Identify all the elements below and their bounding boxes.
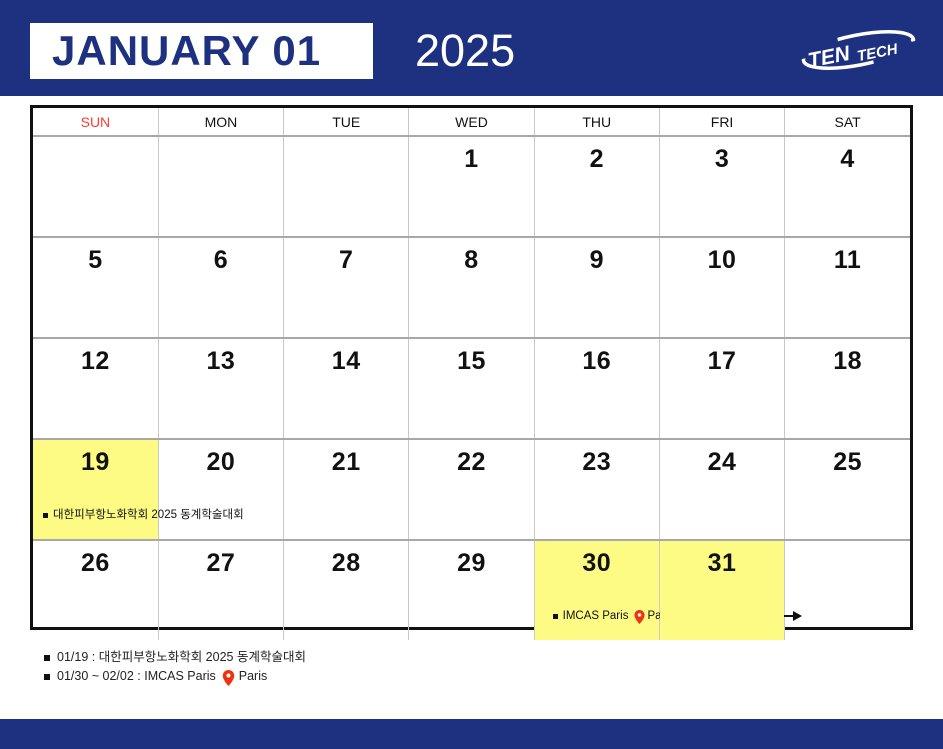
day-number: 4 (785, 145, 910, 173)
day-number: 16 (535, 347, 659, 375)
legend-item-2: 01/30 ~ 02/02 : IMCAS Paris Paris (44, 667, 644, 686)
day-cell[interactable]: 4 (785, 136, 910, 237)
day-number: 11 (785, 246, 910, 274)
weekday-header-sat: SAT (785, 108, 910, 136)
weekday-header-thu: THU (534, 108, 659, 136)
day-cell[interactable]: 24 (659, 439, 784, 540)
day-cell[interactable]: 27 (158, 540, 283, 640)
day-cell-19[interactable]: 19 대한피부항노화학회 2025 동계학술대회 (33, 439, 158, 540)
bullet-square-icon (44, 655, 50, 661)
day-number: 19 (33, 448, 158, 476)
weekday-header-wed: WED (409, 108, 534, 136)
day-cell[interactable]: 18 (785, 338, 910, 439)
day-number: 28 (284, 549, 408, 577)
footer-bar (0, 719, 943, 749)
day-number: 10 (660, 246, 784, 274)
day-cell[interactable]: 25 (785, 439, 910, 540)
weekday-header-row: SUN MON TUE WED THU FRI SAT (33, 108, 910, 136)
day-number: 13 (159, 347, 283, 375)
day-cell[interactable]: 20 (158, 439, 283, 540)
page-title: JANUARY 01 (30, 30, 321, 72)
day-number: 20 (159, 448, 283, 476)
day-cell[interactable]: 2 (534, 136, 659, 237)
calendar-grid: SUN MON TUE WED THU FRI SAT 1 2 3 4 (30, 105, 913, 630)
day-number: 2 (535, 145, 659, 173)
day-number: 26 (33, 549, 158, 577)
day-number: 12 (33, 347, 158, 375)
day-number: 31 (660, 549, 784, 577)
day-cell[interactable]: 26 (33, 540, 158, 640)
calendar-week-row: 1 2 3 4 (33, 136, 910, 237)
day-cell[interactable]: 16 (534, 338, 659, 439)
day-number: 22 (409, 448, 533, 476)
day-cell[interactable]: 5 (33, 237, 158, 338)
year-label: 2025 (415, 24, 515, 78)
bullet-square-icon (43, 513, 48, 518)
day-cell[interactable]: 10 (659, 237, 784, 338)
bullet-square-icon (553, 614, 558, 619)
day-cell[interactable]: 1 (409, 136, 534, 237)
day-number: 8 (409, 246, 533, 274)
weekday-header-fri: FRI (659, 108, 784, 136)
day-number: 21 (284, 448, 408, 476)
day-number: 14 (284, 347, 408, 375)
map-pin-icon (222, 670, 235, 686)
day-cell[interactable]: 7 (284, 237, 409, 338)
day-number: 25 (785, 448, 910, 476)
event-title: IMCAS Paris (563, 609, 629, 623)
bullet-square-icon (44, 674, 50, 680)
day-cell[interactable]: 8 (409, 237, 534, 338)
day-cell[interactable] (785, 540, 910, 640)
day-cell[interactable]: 29 (409, 540, 534, 640)
map-pin-icon (634, 610, 645, 624)
weekday-header-tue: TUE (284, 108, 409, 136)
day-cell[interactable]: 11 (785, 237, 910, 338)
day-number: 17 (660, 347, 784, 375)
day-cell[interactable] (284, 136, 409, 237)
legend-item-1: 01/19 : 대한피부항노화학회 2025 동계학술대회 (44, 648, 644, 667)
day-cell-30[interactable]: 30 IMCAS Paris Paris (534, 540, 659, 640)
day-number: 29 (409, 549, 533, 577)
day-cell[interactable]: 17 (659, 338, 784, 439)
day-cell-31[interactable]: 31 (659, 540, 784, 640)
day-number: 27 (159, 549, 283, 577)
day-cell[interactable]: 3 (659, 136, 784, 237)
calendar-week-row: 19 대한피부항노화학회 2025 동계학술대회 20 21 22 23 24 … (33, 439, 910, 540)
day-number: 9 (535, 246, 659, 274)
month-title-box: JANUARY 01 (30, 23, 373, 79)
day-number: 5 (33, 246, 158, 274)
day-cell[interactable]: 23 (534, 439, 659, 540)
calendar-table: SUN MON TUE WED THU FRI SAT 1 2 3 4 (33, 108, 910, 640)
day-number: 1 (409, 145, 533, 173)
day-cell[interactable]: 22 (409, 439, 534, 540)
day-number: 6 (159, 246, 283, 274)
day-cell[interactable] (33, 136, 158, 237)
day-cell[interactable] (158, 136, 283, 237)
day-cell[interactable]: 28 (284, 540, 409, 640)
day-number: 23 (535, 448, 659, 476)
calendar-week-row: 5 6 7 8 9 10 11 (33, 237, 910, 338)
day-number: 18 (785, 347, 910, 375)
day-number: 7 (284, 246, 408, 274)
day-number: 30 (535, 549, 659, 577)
calendar-week-row: 26 27 28 29 30 IMCAS Paris (33, 540, 910, 640)
day-cell[interactable]: 21 (284, 439, 409, 540)
tentech-logo-icon: TEN TECH (796, 30, 921, 70)
day-cell[interactable]: 15 (409, 338, 534, 439)
calendar-week-row: 12 13 14 15 16 17 18 (33, 338, 910, 439)
day-number: 15 (409, 347, 533, 375)
legend-text: 01/19 : 대한피부항노화학회 2025 동계학술대회 (57, 648, 306, 667)
weekday-header-sun: SUN (33, 108, 158, 136)
weekday-header-mon: MON (158, 108, 283, 136)
legend-location: Paris (239, 667, 267, 686)
legend-text: 01/30 ~ 02/02 : IMCAS Paris (57, 667, 216, 686)
day-number: 3 (660, 145, 784, 173)
day-cell[interactable]: 6 (158, 237, 283, 338)
day-cell[interactable]: 14 (284, 338, 409, 439)
day-number: 24 (660, 448, 784, 476)
page-header: JANUARY 01 2025 TEN TECH (0, 0, 943, 96)
day-cell[interactable]: 13 (158, 338, 283, 439)
day-cell[interactable]: 9 (534, 237, 659, 338)
event-legend: 01/19 : 대한피부항노화학회 2025 동계학술대회 01/30 ~ 02… (44, 648, 644, 686)
day-cell[interactable]: 12 (33, 338, 158, 439)
